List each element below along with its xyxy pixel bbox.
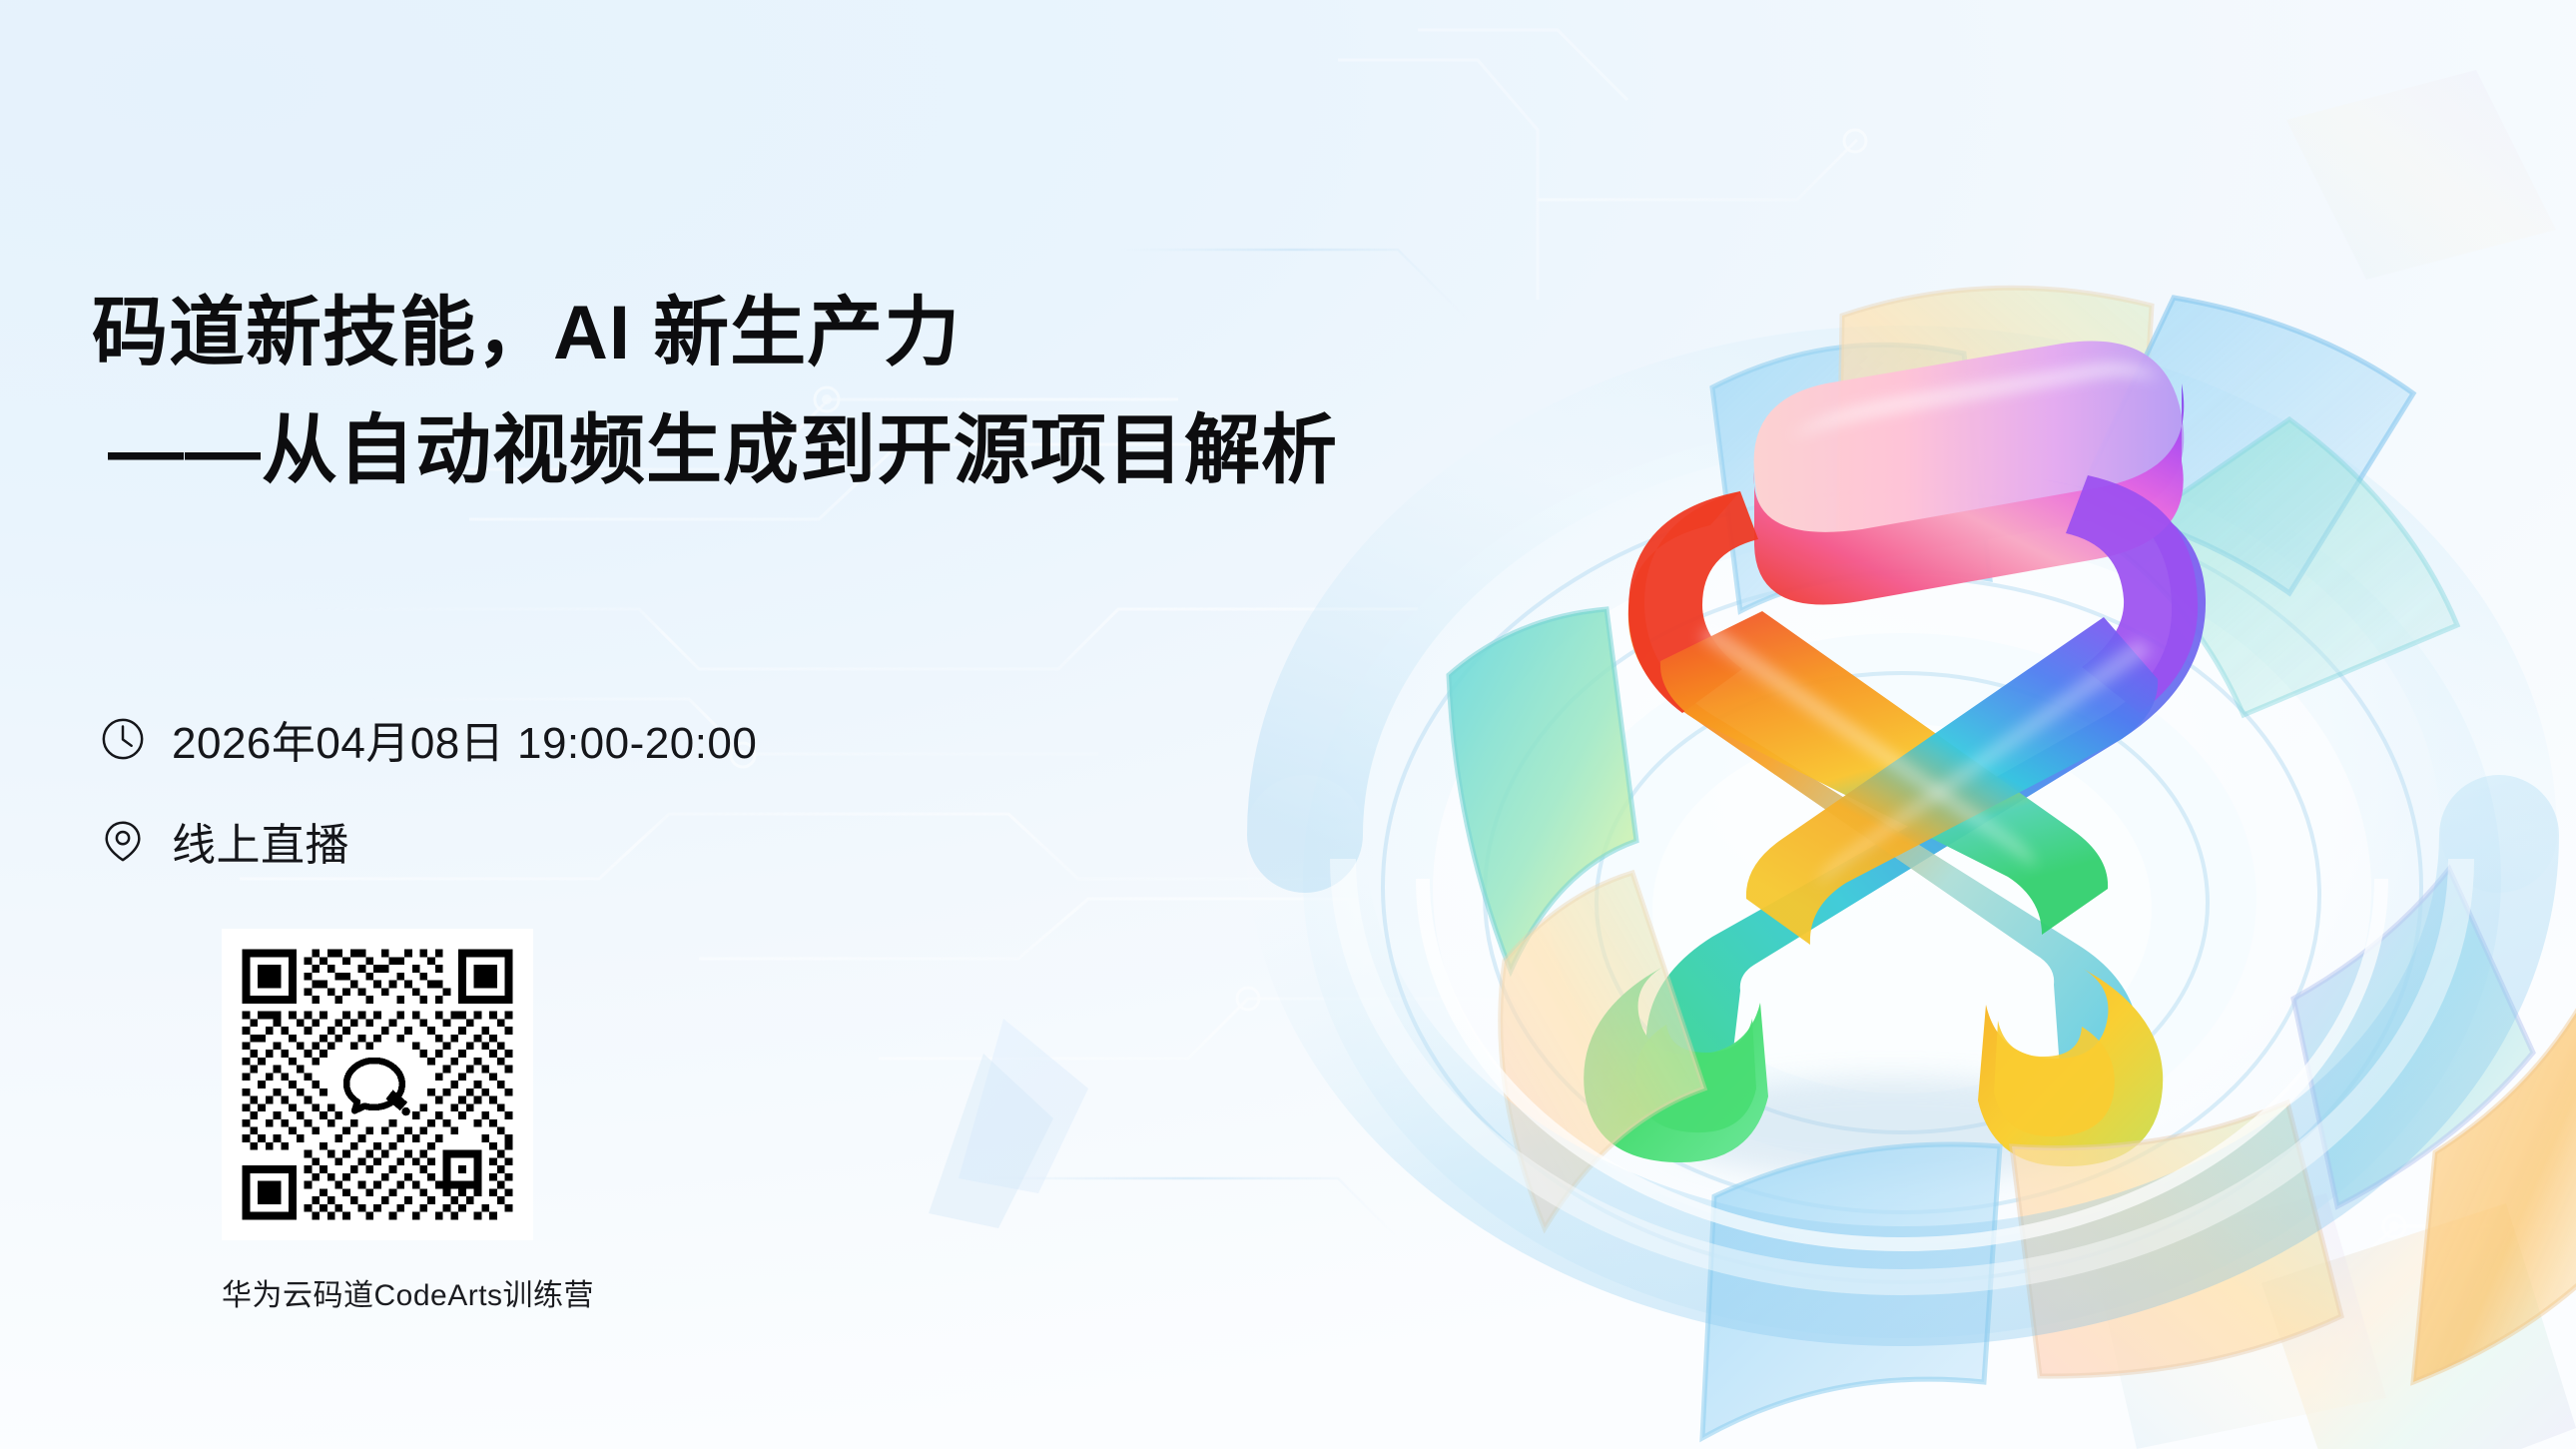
codearts-3d-emblem — [1243, 120, 2576, 1448]
qr-block: 华为云码道CodeArts训练营 — [222, 929, 533, 1314]
page-title-line-2: ——从自动视频生成到开源项目解析 — [108, 413, 1338, 489]
qr-caption: 华为云码道CodeArts训练营 — [222, 1270, 533, 1314]
event-datetime-row: 2026年04月08日 19:00-20:00 — [100, 707, 757, 771]
page-title-line-1: 码道新技能，AI 新生产力 — [92, 296, 1338, 371]
clock-icon — [100, 716, 146, 762]
event-datetime-text: 2026年04月08日 19:00-20:00 — [172, 707, 757, 771]
qr-code[interactable] — [222, 929, 533, 1240]
poster-content: 码道新技能，AI 新生产力 ——从自动视频生成到开源项目解析 2026年04月0… — [0, 0, 1248, 1449]
webinar-poster: 码道新技能，AI 新生产力 ——从自动视频生成到开源项目解析 2026年04月0… — [0, 0, 2576, 1449]
location-pin-icon — [100, 818, 146, 864]
event-location-row: 线上直播 — [100, 809, 757, 873]
event-meta: 2026年04月08日 19:00-20:00 线上直播 — [100, 707, 757, 911]
event-location-text: 线上直播 — [172, 809, 349, 873]
title-block: 码道新技能，AI 新生产力 ——从自动视频生成到开源项目解析 — [92, 296, 1338, 489]
